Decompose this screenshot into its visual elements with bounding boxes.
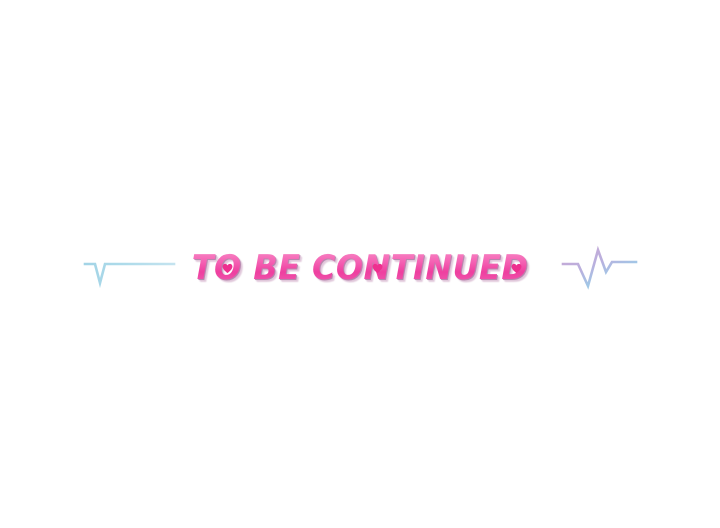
- flatline-with-dip-icon: [84, 238, 176, 298]
- banner: TO BE CONTINUED: [0, 238, 720, 298]
- page-title: TO BE CONTINUED: [192, 251, 529, 285]
- to-be-continued-card: TO BE CONTINUED: [0, 0, 720, 528]
- heartbeat-pulse-icon: [562, 238, 638, 298]
